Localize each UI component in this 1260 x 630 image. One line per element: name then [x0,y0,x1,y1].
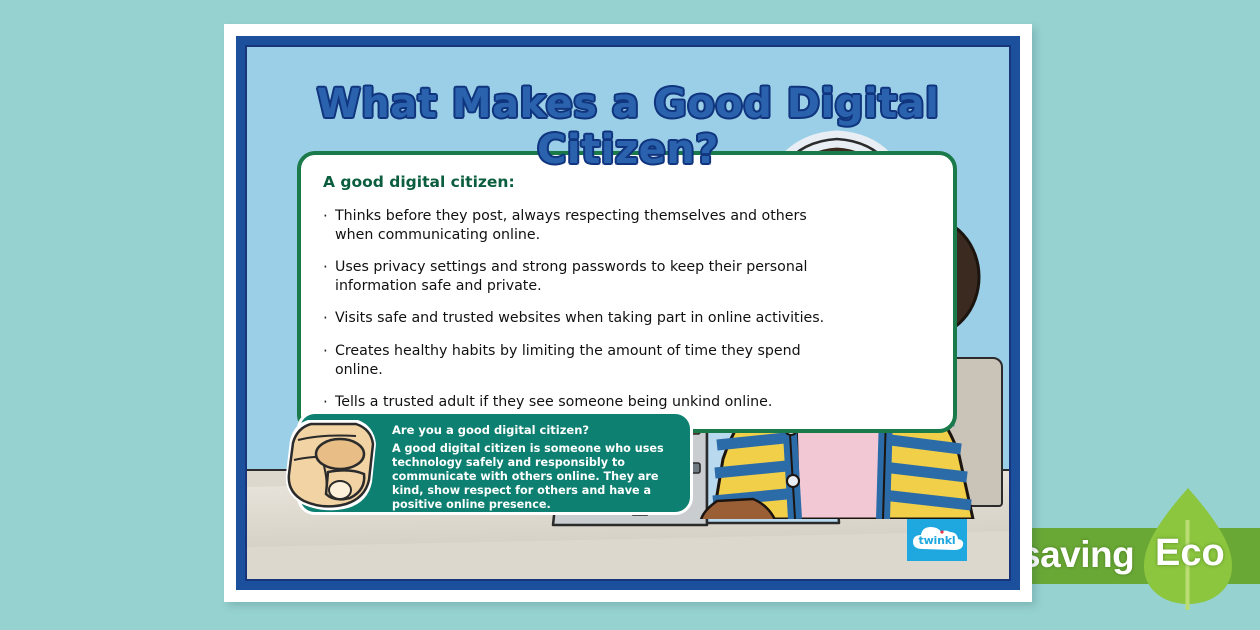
page-title: What Makes a Good Digital Citizen? [247,81,1009,173]
twinkl-wordmark: twinkl [919,534,956,547]
poster: What Makes a Good Digital Citizen? [224,24,1032,602]
info-box-body: A good digital citizen is someone who us… [392,442,676,512]
list-item-text: Creates healthy habits by limiting the a… [335,342,847,379]
list-item: · Tells a trusted adult if they see some… [323,393,931,412]
content-card: A good digital citizen: · Thinks before … [297,151,957,433]
bullet-icon: · [323,258,335,277]
list-item-text: Tells a trusted adult if they see someon… [335,393,772,412]
eco-banner-text: saving [1020,534,1134,576]
eco-banner-word: Eco [1155,532,1225,575]
list-item-text: Thinks before they post, always respecti… [335,207,847,244]
info-box: Are you a good digital citizen? A good d… [297,411,693,515]
list-item-text: Visits safe and trusted websites when ta… [335,309,824,328]
list-item: · Visits safe and trusted websites when … [323,309,931,328]
list-item: · Creates healthy habits by limiting the… [323,342,931,379]
list-item-text: Uses privacy settings and strong passwor… [335,258,847,295]
info-box-heading: Are you a good digital citizen? [392,423,676,437]
list-item: · Uses privacy settings and strong passw… [323,258,931,295]
bullet-icon: · [323,342,335,361]
pointing-fist-icon [278,410,394,518]
card-heading: A good digital citizen: [323,173,931,191]
bullet-icon: · [323,309,335,328]
twinkl-logo[interactable]: twinkl [907,519,967,561]
list-item: · Thinks before they post, always respec… [323,207,931,244]
poster-frame: What Makes a Good Digital Citizen? [236,36,1020,590]
poster-page: What Makes a Good Digital Citizen? [245,45,1011,581]
bullet-icon: · [323,207,335,226]
